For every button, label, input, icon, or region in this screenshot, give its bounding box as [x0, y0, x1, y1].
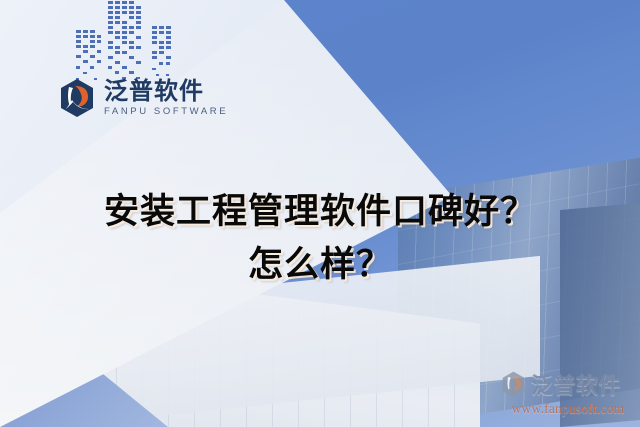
headline: 安装工程管理软件口碑好？ 怎么样？	[0, 186, 640, 292]
brand-logo-text: 泛普软件 FANPU SOFTWARE	[104, 79, 228, 117]
watermark-brand-name: 泛普软件	[531, 368, 621, 400]
headline-line-1: 安装工程管理软件口碑好？	[0, 186, 640, 239]
watermark-logo-row: 泛普软件	[500, 368, 636, 400]
brand-logo: 泛普软件 FANPU SOFTWARE	[57, 78, 228, 118]
watermark: 泛普软件 www.fanpusoft.com	[500, 368, 636, 417]
brand-name-en: FANPU SOFTWARE	[104, 107, 228, 117]
dot-matrix-skyline-icon	[64, 0, 184, 88]
headline-line-2: 怎么样？	[0, 239, 640, 292]
fanpu-logo-mark-icon	[57, 78, 97, 118]
brand-name-cn: 泛普软件	[104, 79, 228, 103]
fanpu-watermark-mark-icon	[500, 371, 527, 398]
promo-banner: 泛普软件 FANPU SOFTWARE 安装工程管理软件口碑好？ 怎么样？ 泛普…	[0, 0, 640, 427]
watermark-url: www.fanpusoft.com	[500, 401, 636, 417]
